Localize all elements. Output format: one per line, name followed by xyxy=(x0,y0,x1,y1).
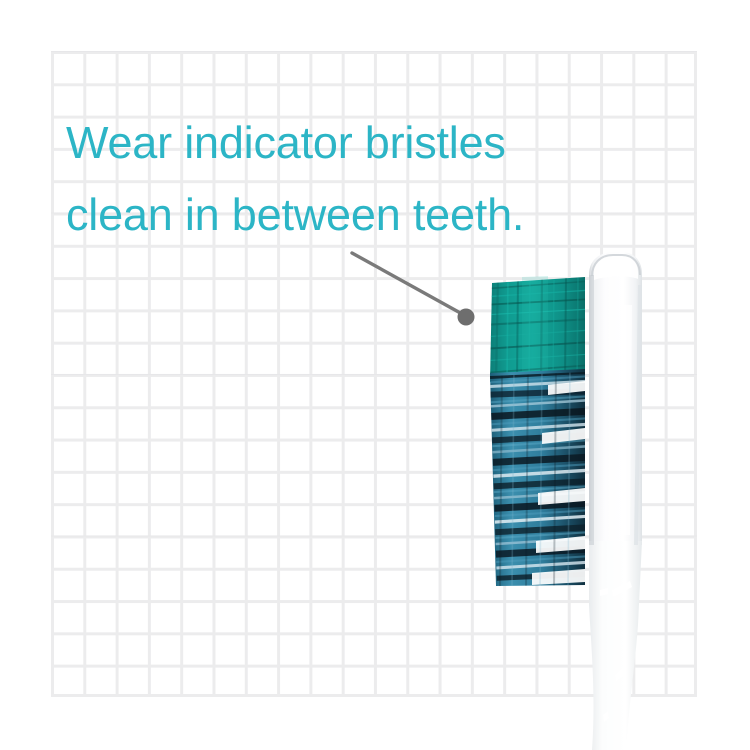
lower-bristle-field xyxy=(480,365,592,590)
toothbrush-handle xyxy=(589,252,642,750)
toothbrush-illustration xyxy=(452,245,750,750)
page-title: Wear indicator bristles clean in between… xyxy=(66,107,626,251)
product-feature-image: Wear indicator bristles clean in between… xyxy=(0,0,750,750)
wear-indicator-bristles xyxy=(482,275,592,385)
